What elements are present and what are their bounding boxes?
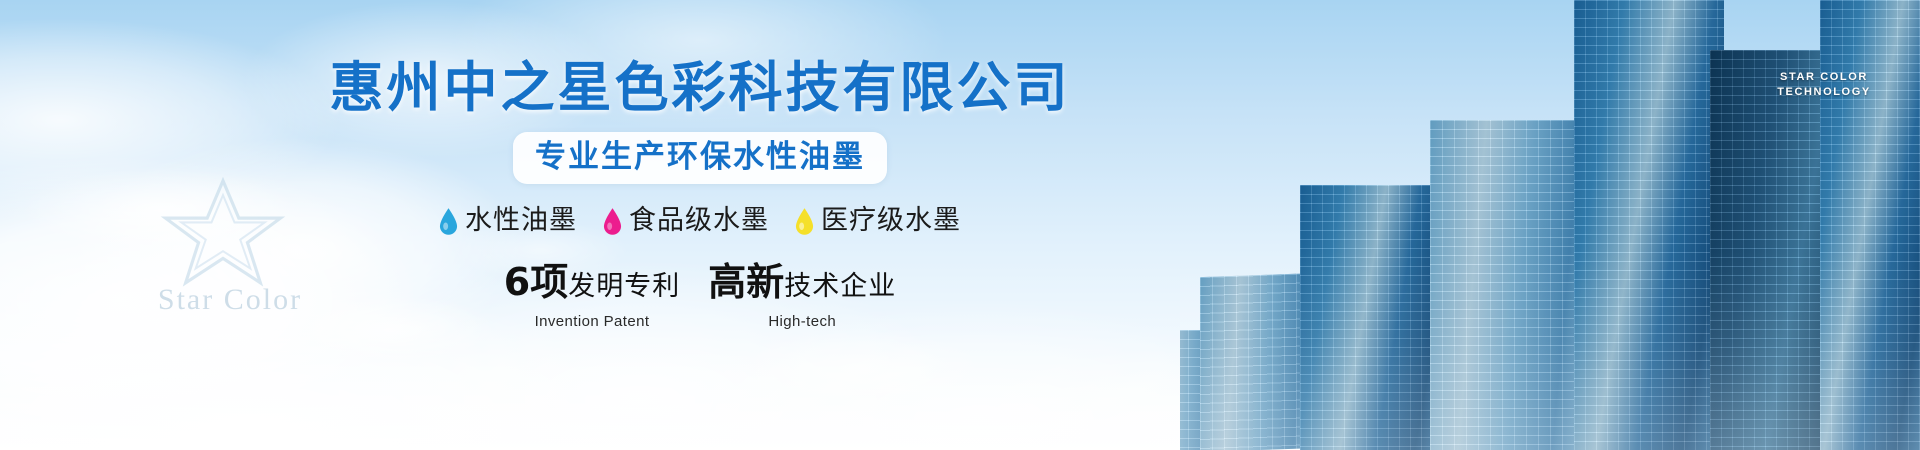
badge-cn-small: 发明专利 [568, 271, 680, 302]
company-title: 惠州中之星色彩科技有限公司 [330, 58, 1071, 118]
feature-list: 水性油墨 食品级水墨 医疗级水墨 [439, 206, 961, 236]
feature-item-yellow: 医疗级水墨 [795, 206, 961, 236]
building-f [1820, 0, 1920, 450]
water-drop-icon [439, 208, 458, 235]
feature-label: 水性油墨 [465, 206, 577, 236]
banner-content: 惠州中之星色彩科技有限公司 专业生产环保水性油墨 水性油墨 食品级水墨 [0, 0, 1400, 450]
subtitle-pill-text: 专业生产环保水性油墨 [535, 139, 865, 175]
badge-cn-big: 高新 [708, 260, 784, 304]
badge-cn-text: 6项发明专利 [504, 262, 680, 310]
subtitle-pill: 专业生产环保水性油墨 [513, 132, 887, 184]
badge-invention-patent: 6项发明专利 Invention Patent [504, 262, 680, 331]
feature-item-magenta: 食品级水墨 [603, 206, 769, 236]
badge-en-text: Invention Patent [504, 313, 680, 331]
water-drop-icon [603, 208, 622, 235]
badge-cn-small: 技术企业 [784, 271, 896, 302]
badge-cn-big: 6项 [504, 260, 568, 304]
building-d [1574, 0, 1724, 450]
badge-cn-text: 高新技术企业 [708, 262, 896, 310]
hero-banner: Star Color STAR COLOR TECHNOLOGY 惠州中之星色彩… [0, 0, 1920, 450]
feature-item-cyan: 水性油墨 [439, 206, 577, 236]
badge-en-text: High-tech [708, 313, 896, 331]
credential-badges: 6项发明专利 Invention Patent 高新技术企业 High-tech [504, 262, 896, 331]
badge-high-tech: 高新技术企业 High-tech [708, 262, 896, 331]
water-drop-icon [795, 208, 814, 235]
building-c [1430, 120, 1590, 450]
feature-label: 食品级水墨 [629, 206, 769, 236]
feature-label: 医疗级水墨 [821, 206, 961, 236]
